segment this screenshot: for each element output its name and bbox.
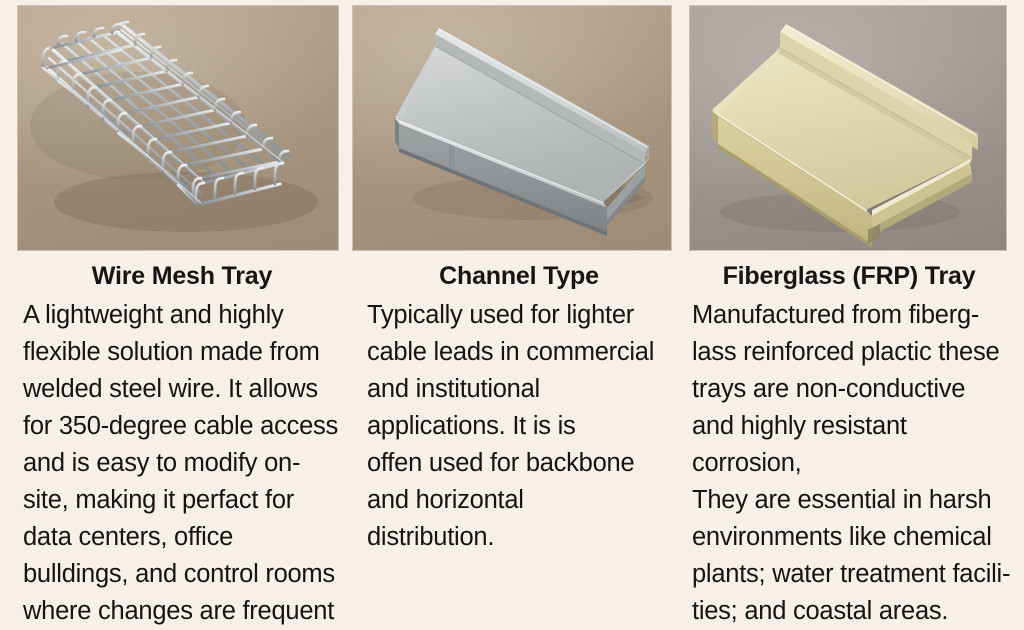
column-fiberglass-frp: Fiberglass (FRP) Tray Manufactured from …: [686, 252, 1012, 630]
channel-type-tray-photo: [353, 6, 671, 250]
fiberglass-frp-tray-photo: [690, 6, 1006, 250]
wire-mesh-tray-illustration: [18, 6, 338, 250]
tray-title-channel-type: Channel Type: [363, 252, 675, 293]
tray-description-channel-type: Typically used for lighter cable leads i…: [363, 293, 675, 556]
column-channel-type: Channel Type Typically used for lighter …: [363, 252, 675, 556]
frp-tray-illustration: [690, 6, 1006, 250]
tray-description-wire-mesh: A lightweight and highly flexible soluti…: [14, 293, 344, 630]
comparison-page: Wire Mesh Tray A lightweight and highly …: [0, 0, 1024, 626]
photo-row: [0, 0, 1024, 252]
wire-mesh-tray-photo: [18, 6, 338, 250]
tray-title-fiberglass-frp: Fiberglass (FRP) Tray: [686, 252, 1012, 293]
channel-tray-illustration: [353, 6, 671, 250]
tray-title-wire-mesh: Wire Mesh Tray: [14, 252, 344, 293]
tray-description-fiberglass-frp: Manufactured from fiberg- lass reinforce…: [686, 293, 1012, 630]
column-wire-mesh: Wire Mesh Tray A lightweight and highly …: [14, 252, 344, 630]
caption-columns: Wire Mesh Tray A lightweight and highly …: [0, 252, 1024, 626]
